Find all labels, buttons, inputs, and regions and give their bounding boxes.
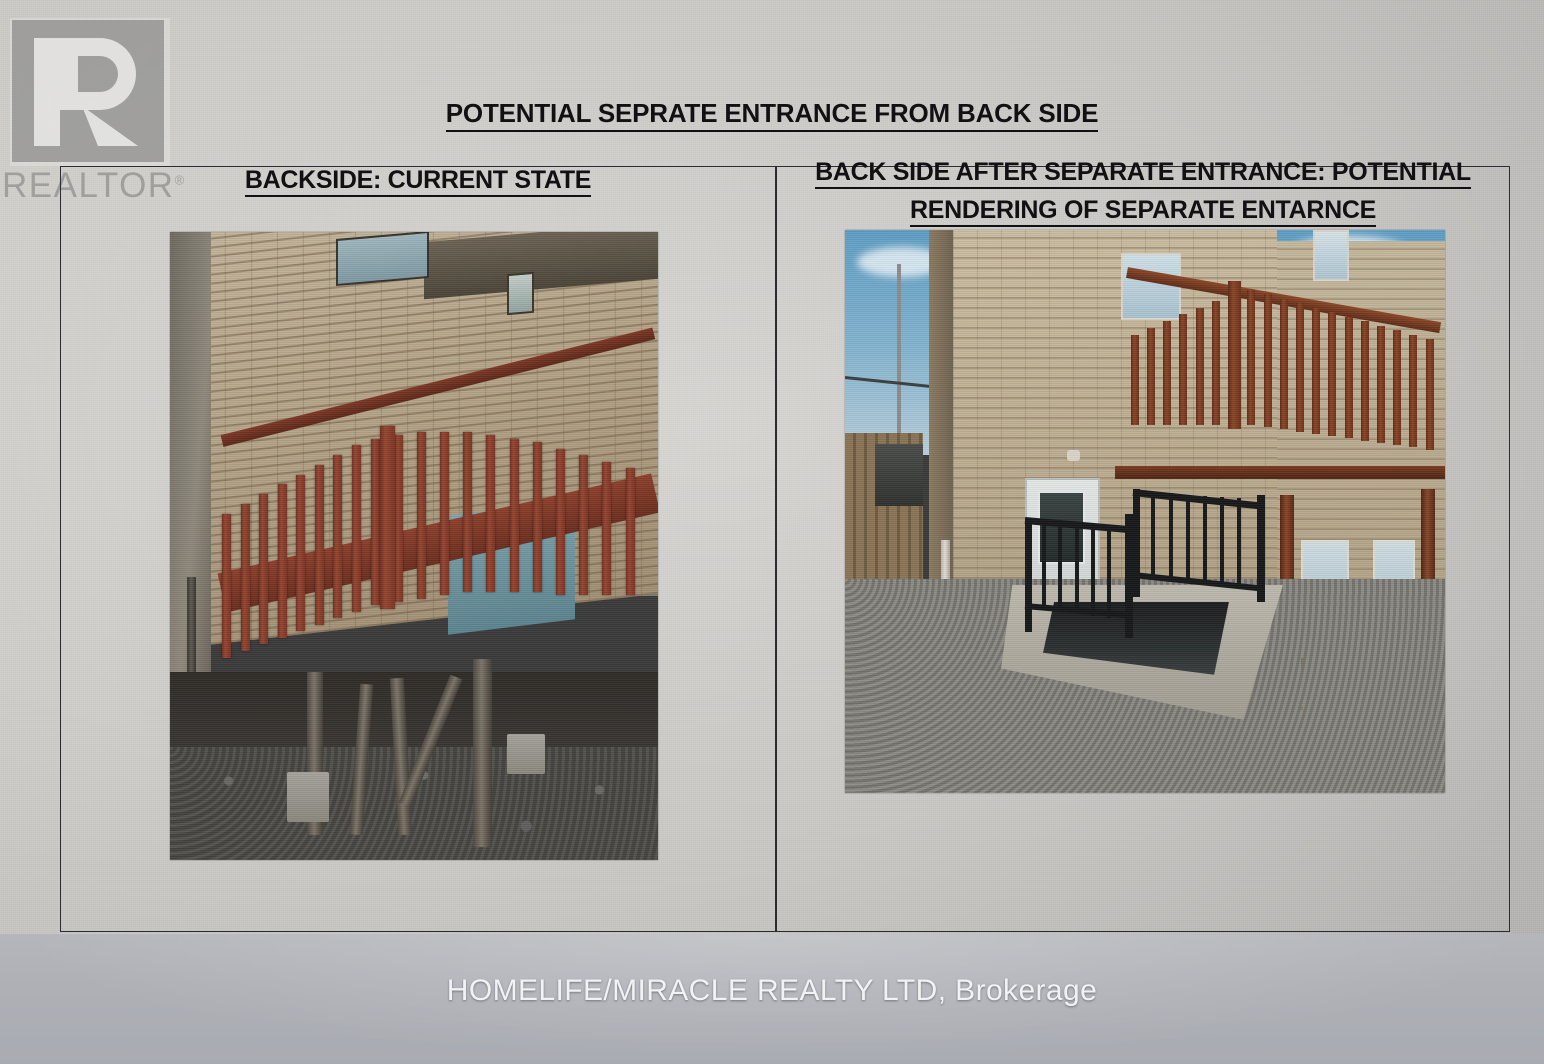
photo-right-rail-corner-post <box>1228 281 1241 430</box>
photo-left-rail-slat <box>463 432 472 592</box>
photo-left-small-window <box>507 272 534 315</box>
photo-left-rail-slat <box>486 435 495 592</box>
photo-left-rail-slat <box>352 445 361 612</box>
photo-left-concrete-footing-2 <box>507 734 545 774</box>
railing-baluster <box>1151 492 1155 575</box>
photo-left-rail-slat <box>259 494 268 644</box>
railing-baluster <box>1042 521 1046 610</box>
photo-backside-after-separate-entrance <box>845 230 1445 793</box>
photo-left-rail-slat <box>579 455 588 595</box>
photo-right-exterior-light <box>1067 450 1080 461</box>
photo-left-rail-slat <box>333 455 342 618</box>
photo-right-rail-slat <box>1212 301 1220 425</box>
railing-top-rail <box>1025 517 1133 533</box>
photo-right-rail-slat <box>1247 290 1255 425</box>
page-title: POTENTIAL SEPRATE ENTRANCE FROM BACK SID… <box>0 98 1544 129</box>
photo-right-rail-slat <box>1179 314 1187 424</box>
photo-left-rail-slat <box>222 514 231 658</box>
photo-backside-current-state <box>170 232 658 860</box>
photo-left-rail-slat <box>556 449 565 596</box>
railing-baluster <box>1169 493 1173 577</box>
photo-right-utility-pole <box>897 264 901 455</box>
realtor-r-logo-icon <box>12 20 164 162</box>
photo-left-rail-corner-post <box>380 426 395 609</box>
photo-left-rail-slat <box>533 442 542 592</box>
photo-right-rail-slat <box>1196 308 1204 425</box>
photo-left-rail-slat <box>440 432 449 595</box>
photo-right-black-railing-front <box>1025 514 1133 638</box>
photo-right-rail-slat <box>1264 294 1272 427</box>
photo-right-rail-slat <box>1163 321 1171 425</box>
photo-left-rail-slat <box>241 504 250 651</box>
photo-left-rail-slat <box>417 432 426 599</box>
photo-right-rail-slat <box>1426 339 1434 449</box>
photo-left-deck-railing <box>194 370 658 697</box>
railing-baluster <box>1058 522 1062 611</box>
railing-baluster <box>1091 524 1095 616</box>
railing-baluster <box>1075 523 1079 613</box>
photo-right-rail-slat <box>1361 321 1369 440</box>
photo-left-rail-slat <box>626 468 635 595</box>
photo-left-rail-slat <box>602 462 611 596</box>
photo-left-rail-slat <box>278 484 287 637</box>
panel-title-right-line2: RENDERING OF SEPARATE ENTARNCE <box>910 196 1376 227</box>
photo-right-rail-slat <box>1296 303 1304 431</box>
board-column-divider <box>775 166 777 932</box>
railing-baluster <box>1107 525 1111 618</box>
railing-baluster <box>1186 495 1190 581</box>
panel-title-right: BACK SIDE AFTER SEPARATE ENTRANCE: POTEN… <box>778 156 1508 227</box>
screenshot-root: REALTOR® POTENTIAL SEPRATE ENTRANCE FROM… <box>0 0 1544 1064</box>
photo-right-black-railing-rear <box>1133 489 1265 602</box>
railing-baluster <box>1237 498 1241 587</box>
photo-left-rail-slat <box>394 435 403 602</box>
photo-right-rail-slat <box>1345 317 1353 439</box>
photo-left-rail-slat <box>510 439 519 592</box>
railing-post <box>1133 489 1140 597</box>
photo-right-rail-slat <box>1328 312 1336 436</box>
photo-right-deck-beam <box>1115 466 1445 479</box>
photo-right-rail-slat <box>1131 335 1139 425</box>
photo-right-rail-slat <box>1409 335 1417 448</box>
panel-title-right-line1: BACK SIDE AFTER SEPARATE ENTRANCE: POTEN… <box>815 158 1471 189</box>
photo-left-rail-slat <box>315 465 324 625</box>
photo-left-concrete-footing-1 <box>287 772 329 822</box>
railing-bottom-rail <box>1025 603 1133 618</box>
photo-right-rail-slat <box>1377 326 1385 443</box>
photo-right-rail-slat <box>1312 308 1320 434</box>
footer-brokerage-text: HOMELIFE/MIRACLE REALTY LTD, Brokerage <box>447 974 1097 1007</box>
photo-right-ac-unit <box>875 444 923 506</box>
photo-right-rail-slat <box>1393 330 1401 445</box>
photo-left-rail-slat <box>371 439 380 606</box>
railing-post <box>1025 518 1032 632</box>
footer-brokerage: HOMELIFE/MIRACLE REALTY LTD, Brokerage <box>0 974 1544 1008</box>
photo-right-rail-slat <box>1147 328 1155 425</box>
photo-left-upper-window <box>336 232 429 286</box>
photo-right-weeds <box>1301 658 1371 710</box>
panel-title-left-text: BACKSIDE: CURRENT STATE <box>245 166 591 197</box>
photo-right-raised-deck <box>1121 258 1445 483</box>
railing-baluster <box>1220 497 1224 585</box>
panel-title-left: BACKSIDE: CURRENT STATE <box>62 164 774 197</box>
page-title-text: POTENTIAL SEPRATE ENTRANCE FROM BACK SID… <box>446 98 1098 132</box>
panel-title-right-line2-wrap: RENDERING OF SEPARATE ENTARNCE <box>778 194 1508 227</box>
photo-right-rail-slat <box>1280 299 1288 430</box>
railing-baluster <box>1203 496 1207 583</box>
photo-left-rail-slat <box>296 475 305 632</box>
